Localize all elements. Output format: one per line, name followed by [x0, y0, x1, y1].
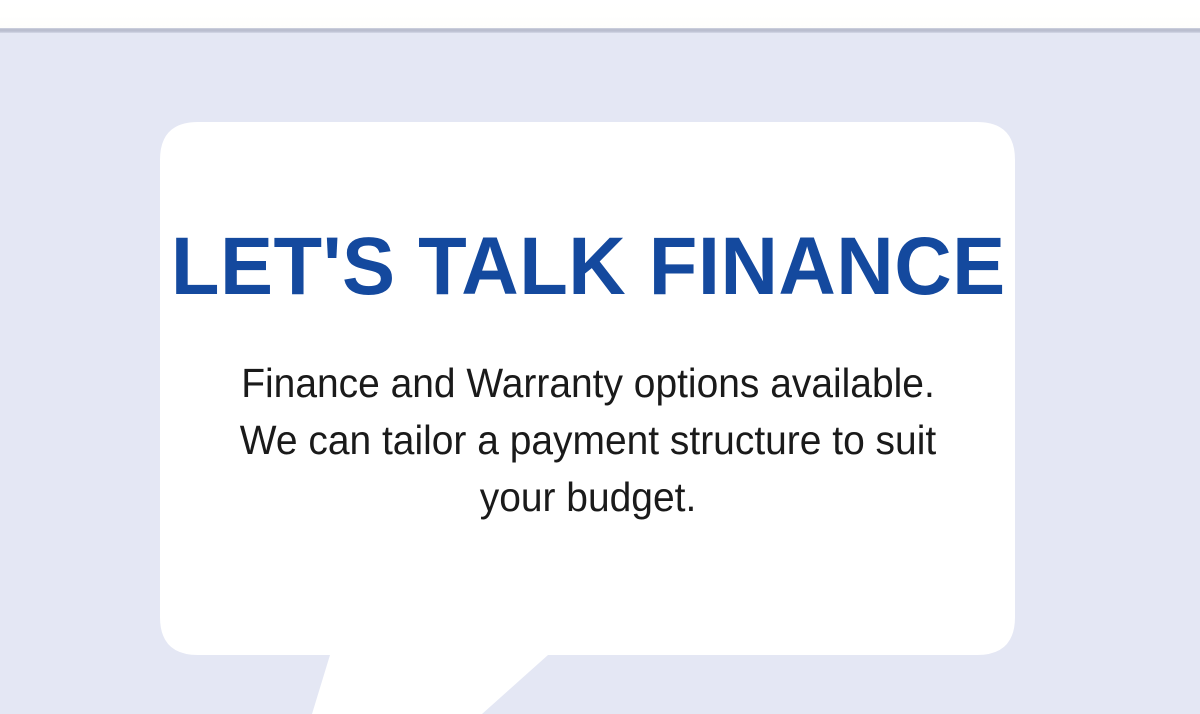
speech-bubble-content: LET'S TALK FINANCE Finance and Warranty … — [160, 122, 1016, 655]
headline: LET'S TALK FINANCE — [171, 228, 1006, 307]
body-copy: Finance and Warranty options available. … — [227, 355, 949, 526]
screenshot-stage: LET'S TALK FINANCE Finance and Warranty … — [0, 0, 1200, 714]
speech-bubble-container: LET'S TALK FINANCE Finance and Warranty … — [0, 0, 1200, 714]
